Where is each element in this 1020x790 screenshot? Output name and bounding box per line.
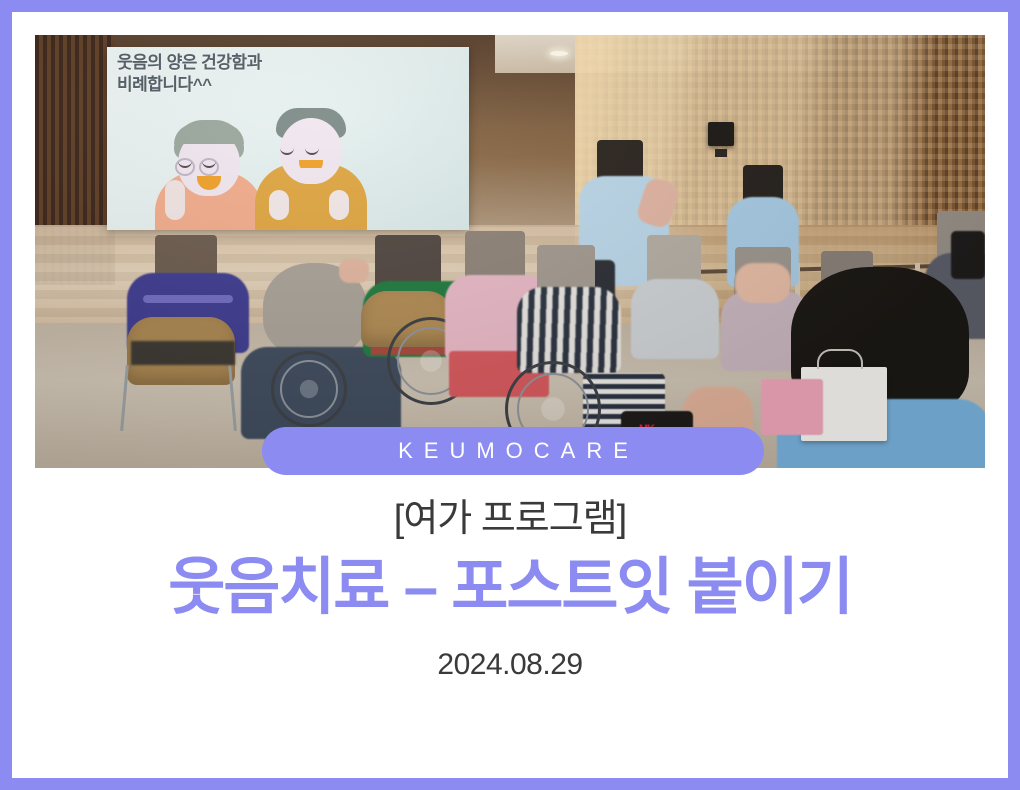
cartoon-collar bbox=[297, 168, 325, 184]
poster-frame: 웃음의 양은 건강함과 비례합니다^^ bbox=[0, 0, 1020, 790]
cartoon-hand bbox=[165, 180, 185, 220]
wall-speaker-icon bbox=[708, 122, 734, 146]
raised-hand bbox=[735, 263, 791, 303]
cartoon-hair-front bbox=[174, 124, 244, 144]
projection-screen-line1: 웃음의 양은 건강함과 bbox=[117, 53, 463, 74]
pink-folder bbox=[761, 379, 823, 435]
top bbox=[631, 279, 719, 359]
cartoon-grandma bbox=[155, 118, 263, 230]
session-photo: 웃음의 양은 건강함과 비례합니다^^ bbox=[35, 35, 985, 468]
downlight-icon bbox=[550, 51, 568, 56]
caption-block: [여가 프로그램] 웃음치료 – 포스트잇 붙이기 2024.08.29 bbox=[12, 499, 1008, 682]
cartoon-thumb-right bbox=[329, 190, 349, 220]
seated-person-far-1 bbox=[631, 235, 721, 385]
page-title: 웃음치료 – 포스트잇 붙이기 bbox=[12, 553, 1008, 622]
program-category: [여가 프로그램] bbox=[12, 499, 1008, 541]
event-date: 2024.08.29 bbox=[12, 648, 1008, 682]
striped-top bbox=[517, 287, 621, 373]
pixelated-head bbox=[647, 235, 701, 285]
shopping-bag-handle bbox=[817, 349, 863, 369]
brand-badge: KEUMOCARE bbox=[262, 427, 764, 475]
cartoon-grandpa bbox=[255, 108, 367, 230]
chair-seat-cloth bbox=[131, 341, 235, 365]
raised-hand bbox=[339, 259, 369, 283]
poster-canvas: 웃음의 양은 건강함과 비례합니다^^ bbox=[12, 12, 1008, 778]
brand-label: KEUMOCARE bbox=[387, 438, 639, 464]
projection-screen: 웃음의 양은 건강함과 비례합니다^^ bbox=[107, 47, 469, 230]
speaker-mount bbox=[715, 149, 727, 157]
cartoon-thumb-left bbox=[269, 190, 289, 220]
shirt-highlight bbox=[143, 295, 233, 303]
wheelchair-rim bbox=[280, 360, 338, 418]
photo-background: 웃음의 양은 건강함과 비례합니다^^ bbox=[35, 35, 985, 468]
projection-screen-line2: 비례합니다^^ bbox=[117, 75, 463, 96]
